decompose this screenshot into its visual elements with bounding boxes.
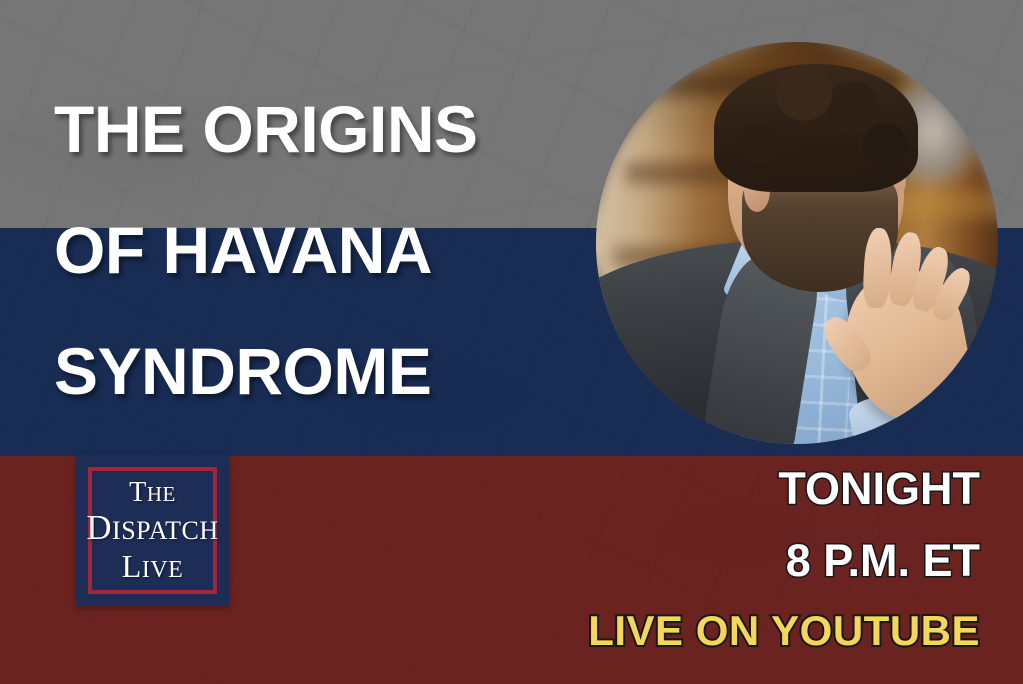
portrait-photo bbox=[596, 42, 998, 444]
logo-rest-ive: IVE bbox=[142, 557, 183, 583]
headline-line-1: THE ORIGINS bbox=[54, 98, 654, 160]
logo-cap-l: L bbox=[122, 548, 142, 584]
guest-portrait-circle bbox=[596, 42, 998, 444]
schedule-day: TONIGHT bbox=[520, 466, 980, 511]
logo-cap-d: D bbox=[86, 508, 112, 547]
schedule-time: 8 P.M. ET bbox=[520, 538, 980, 583]
watch-cta: LIVE ON YOUTUBE bbox=[520, 610, 980, 652]
dispatch-live-logo: THE DISPATCH LIVE bbox=[76, 455, 229, 606]
logo-rest-he: HE bbox=[147, 482, 176, 506]
headline-line-3: SYNDROME bbox=[54, 340, 654, 402]
logo-line-the: THE bbox=[129, 479, 176, 507]
logo-line-dispatch: DISPATCH bbox=[86, 511, 218, 546]
promo-poster: THE ORIGINS OF HAVANA SYNDROME THE DISPA… bbox=[0, 0, 1023, 684]
logo-cap-t: T bbox=[129, 477, 147, 508]
logo-line-live: LIVE bbox=[122, 550, 184, 582]
logo-rest-ispatch: ISPATCH bbox=[112, 516, 219, 545]
hair bbox=[714, 64, 918, 192]
schedule-block: TONIGHT 8 P.M. ET LIVE ON YOUTUBE bbox=[520, 456, 1012, 652]
headline: THE ORIGINS OF HAVANA SYNDROME bbox=[54, 98, 654, 402]
logo-wordmark: THE DISPATCH LIVE bbox=[76, 455, 229, 606]
headline-line-2: OF HAVANA bbox=[54, 219, 654, 281]
